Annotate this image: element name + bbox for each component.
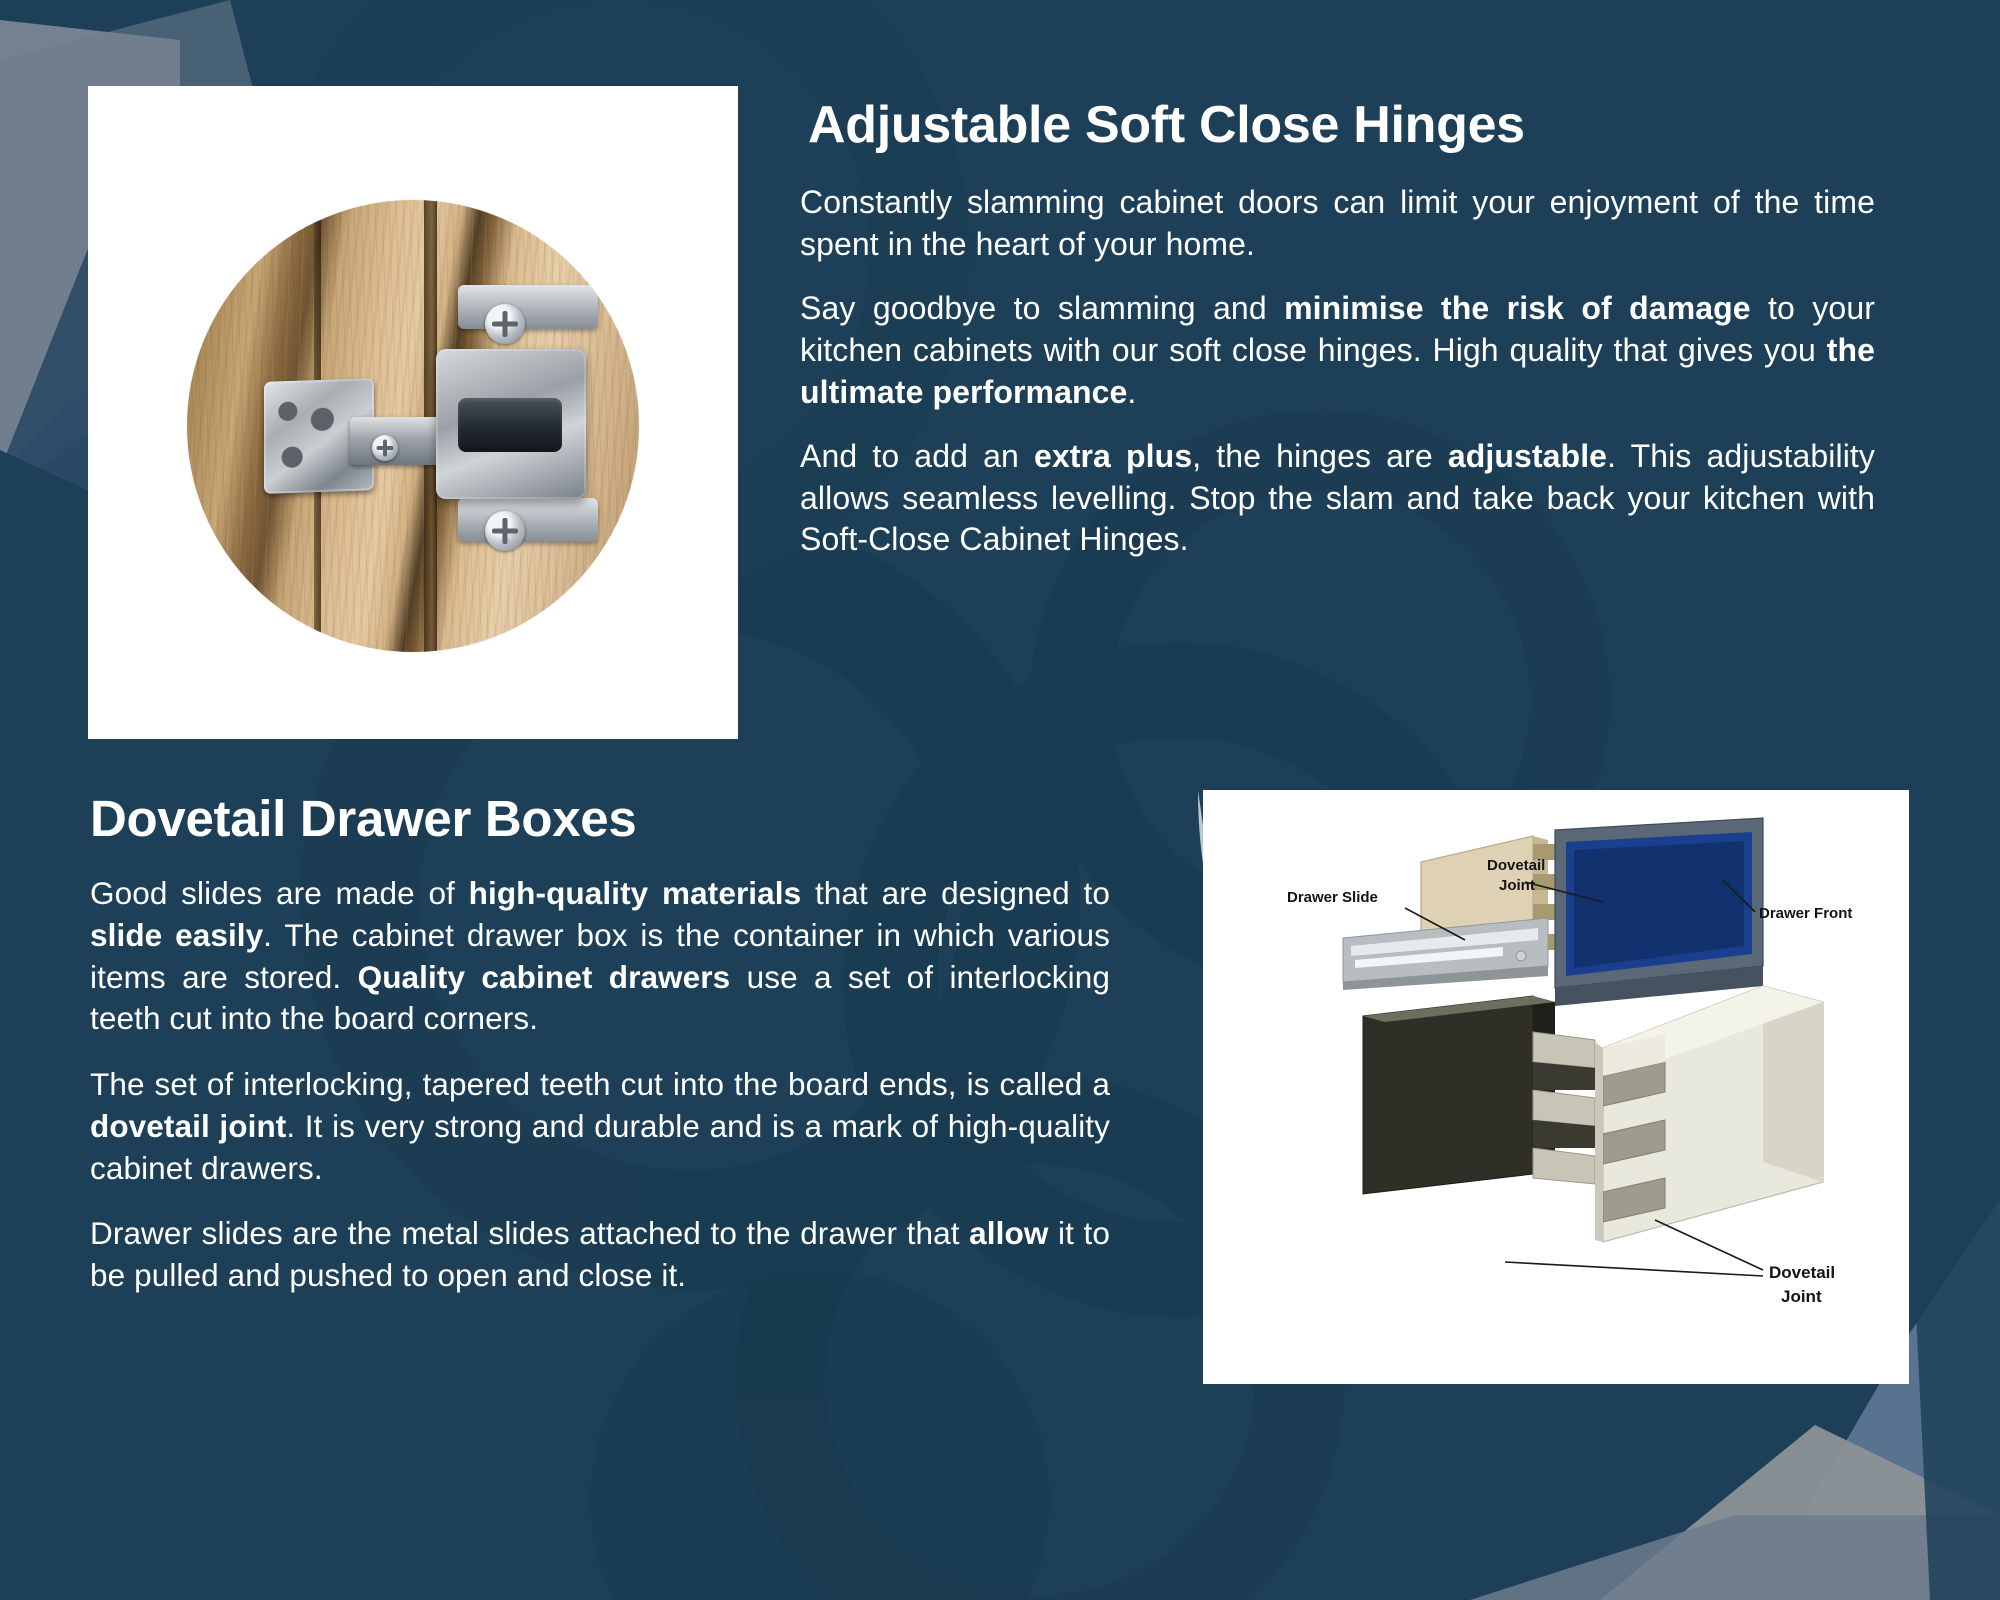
text-run-bold: minimise the risk of damage — [1284, 290, 1751, 326]
soft-close-hinge-photo — [187, 200, 639, 652]
screw-icon — [485, 304, 525, 344]
hinges-section-title: Adjustable Soft Close Hinges — [808, 96, 1875, 154]
hinges-text-column: Adjustable Soft Close Hinges Constantly … — [800, 96, 1875, 584]
dovetail-text-column: Dovetail Drawer Boxes Good slides are ma… — [90, 790, 1110, 1321]
slide-canvas: Adjustable Soft Close Hinges Constantly … — [0, 0, 2000, 1600]
text-run: Constantly slamming cabinet doors can li… — [800, 184, 1875, 262]
text-run-bold: dovetail joint — [90, 1108, 286, 1144]
soft-close-hinge-image-card — [88, 86, 738, 739]
hinges-paragraph-2: Say goodbye to slamming and minimise the… — [800, 288, 1875, 413]
hinges-paragraph-3: And to add an extra plus, the hinges are… — [800, 436, 1875, 561]
text-run: , the hinges are — [1192, 438, 1448, 474]
screw-icon — [485, 511, 525, 551]
text-run-bold: Quality cabinet drawers — [358, 959, 731, 995]
dovetail-diagram-svg: Drawer Slide Dovetail Joint Drawer Front… — [1203, 790, 1909, 1384]
diagram-label-dovetail-joint-top-1: Dovetail — [1487, 857, 1545, 874]
dovetail-paragraph-2: The set of interlocking, tapered teeth c… — [90, 1064, 1110, 1189]
dovetail-paragraph-1: Good slides are made of high-quality mat… — [90, 873, 1110, 1040]
diagram-label-dovetail-joint-bottom-1: Dovetail — [1769, 1263, 1835, 1282]
text-run: Drawer slides are the metal slides attac… — [90, 1215, 969, 1251]
diagram-label-dovetail-joint-top-2: Joint — [1499, 877, 1535, 894]
text-run: Good slides are made of — [90, 875, 469, 911]
text-run: Say goodbye to slamming and — [800, 290, 1284, 326]
hinge-tab-bottom — [458, 498, 598, 542]
hinge-soft-close-damper — [458, 398, 562, 452]
dovetail-paragraph-3: Drawer slides are the metal slides attac… — [90, 1213, 1110, 1296]
diagram-label-drawer-front: Drawer Front — [1759, 905, 1852, 922]
text-run-bold: adjustable — [1448, 438, 1607, 474]
text-run-bold: slide easily — [90, 917, 263, 953]
diagram-label-drawer-slide: Drawer Slide — [1287, 889, 1378, 906]
text-run: And to add an — [800, 438, 1034, 474]
dovetail-diagram-card: Drawer Slide Dovetail Joint Drawer Front… — [1203, 790, 1909, 1384]
text-run-bold: allow — [969, 1215, 1048, 1251]
text-run: that are designed to — [801, 875, 1110, 911]
text-run: . — [1127, 374, 1136, 410]
dovetail-diagram: Drawer Slide Dovetail Joint Drawer Front… — [1203, 790, 1909, 1384]
text-run-bold: extra plus — [1034, 438, 1192, 474]
hinges-paragraph-1: Constantly slamming cabinet doors can li… — [800, 182, 1875, 265]
hinge-tab-top — [458, 285, 598, 329]
text-run: The set of interlocking, tapered teeth c… — [90, 1066, 1110, 1102]
diagram-label-dovetail-joint-bottom-2: Joint — [1781, 1287, 1822, 1306]
text-run-bold: high-quality materials — [469, 875, 802, 911]
dovetail-section-title: Dovetail Drawer Boxes — [90, 790, 1110, 847]
